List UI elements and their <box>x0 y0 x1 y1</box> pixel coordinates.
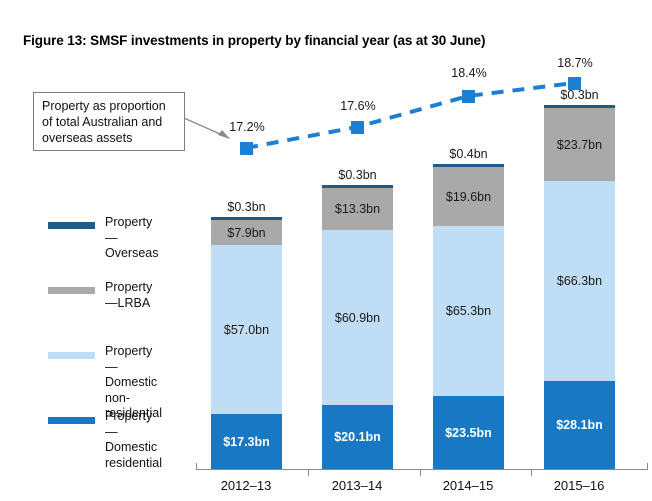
bar-1-lrba-label: $13.3bn <box>335 202 380 216</box>
pct-marker-2012-13[interactable] <box>240 142 253 155</box>
table-row[interactable]: $0.3bn $7.9bn $57.0bn $17.3bn <box>211 217 282 469</box>
page-title: Figure 13: SMSF investments in property … <box>23 33 485 48</box>
legend-label-domestic-residential: Property—Domestic residential <box>105 409 162 471</box>
legend-swatch-overseas <box>48 222 95 229</box>
legend-swatch-domestic-residential <box>48 417 95 424</box>
annotation-callout-text: Property as proportion of total Australi… <box>42 98 177 146</box>
bar-2-segment-lrba[interactable]: $19.6bn <box>433 167 504 226</box>
bar-2-residential-label: $23.5bn <box>445 426 492 440</box>
bar-0-segment-residential[interactable]: $17.3bn <box>211 414 282 469</box>
table-row[interactable]: $0.4bn $19.6bn $65.3bn $23.5bn <box>433 164 504 469</box>
bar-3-residential-label: $28.1bn <box>556 418 603 432</box>
legend-label-overseas: Property—Overseas <box>105 215 158 262</box>
bar-0-overseas-label: $0.3bn <box>211 200 282 214</box>
bar-3-segment-lrba[interactable]: $23.7bn <box>544 108 615 181</box>
bar-3-lrba-label: $23.7bn <box>557 138 602 152</box>
bar-0-nonres-label: $57.0bn <box>224 323 269 337</box>
x-axis-line <box>196 469 648 470</box>
pct-label-2013-14: 17.6% <box>325 99 391 113</box>
legend-label-lrba: Property—LRBA <box>105 280 152 311</box>
bar-0-lrba-label: $7.9bn <box>227 226 265 240</box>
x-axis-right-cap <box>647 463 648 470</box>
x-axis-label-2013-14: 2013–14 <box>302 478 412 493</box>
pct-marker-2014-15[interactable] <box>462 90 475 103</box>
legend-swatch-lrba <box>48 287 95 294</box>
bar-0-segment-nonres[interactable]: $57.0bn <box>211 245 282 414</box>
legend-swatch-domestic-non-residential <box>48 352 95 359</box>
bar-3-nonres-label: $66.3bn <box>557 274 602 288</box>
bar-2-segment-residential[interactable]: $23.5bn <box>433 396 504 469</box>
bar-2-overseas-label: $0.4bn <box>433 147 504 161</box>
x-axis-tick-2 <box>420 469 421 476</box>
x-axis-label-2012-13: 2012–13 <box>191 478 301 493</box>
x-axis-left-cap <box>196 463 197 470</box>
table-row[interactable]: $0.3bn $13.3bn $60.9bn $20.1bn <box>322 185 393 469</box>
bar-2-nonres-label: $65.3bn <box>446 304 491 318</box>
bar-1-overseas-label: $0.3bn <box>322 168 393 182</box>
x-axis-label-2015-16: 2015–16 <box>524 478 634 493</box>
pct-marker-2015-16[interactable] <box>568 77 581 90</box>
annotation-callout-box: Property as proportion of total Australi… <box>33 92 185 151</box>
bar-1-segment-lrba[interactable]: $13.3bn <box>322 188 393 230</box>
bar-3-segment-nonres[interactable]: $66.3bn <box>544 181 615 381</box>
pct-label-2012-13: 17.2% <box>214 120 280 134</box>
bar-1-segment-residential[interactable]: $20.1bn <box>322 405 393 469</box>
x-axis-tick-1 <box>308 469 309 476</box>
x-axis-label-2014-15: 2014–15 <box>413 478 523 493</box>
bar-1-residential-label: $20.1bn <box>334 430 381 444</box>
x-axis-tick-3 <box>531 469 532 476</box>
bar-0-segment-lrba[interactable]: $7.9bn <box>211 220 282 245</box>
bar-2-segment-nonres[interactable]: $65.3bn <box>433 226 504 396</box>
bar-0-residential-label: $17.3bn <box>223 435 270 449</box>
table-row[interactable]: $0.3bn $23.7bn $66.3bn $28.1bn <box>544 105 615 469</box>
bar-1-nonres-label: $60.9bn <box>335 311 380 325</box>
bar-3-overseas-label: $0.3bn <box>544 88 615 102</box>
pct-label-2014-15: 18.4% <box>436 66 502 80</box>
bar-3-segment-residential[interactable]: $28.1bn <box>544 381 615 469</box>
pct-label-2015-16: 18.7% <box>542 56 608 70</box>
bar-2-lrba-label: $19.6bn <box>446 190 491 204</box>
pct-marker-2013-14[interactable] <box>351 121 364 134</box>
bar-1-segment-nonres[interactable]: $60.9bn <box>322 230 393 405</box>
